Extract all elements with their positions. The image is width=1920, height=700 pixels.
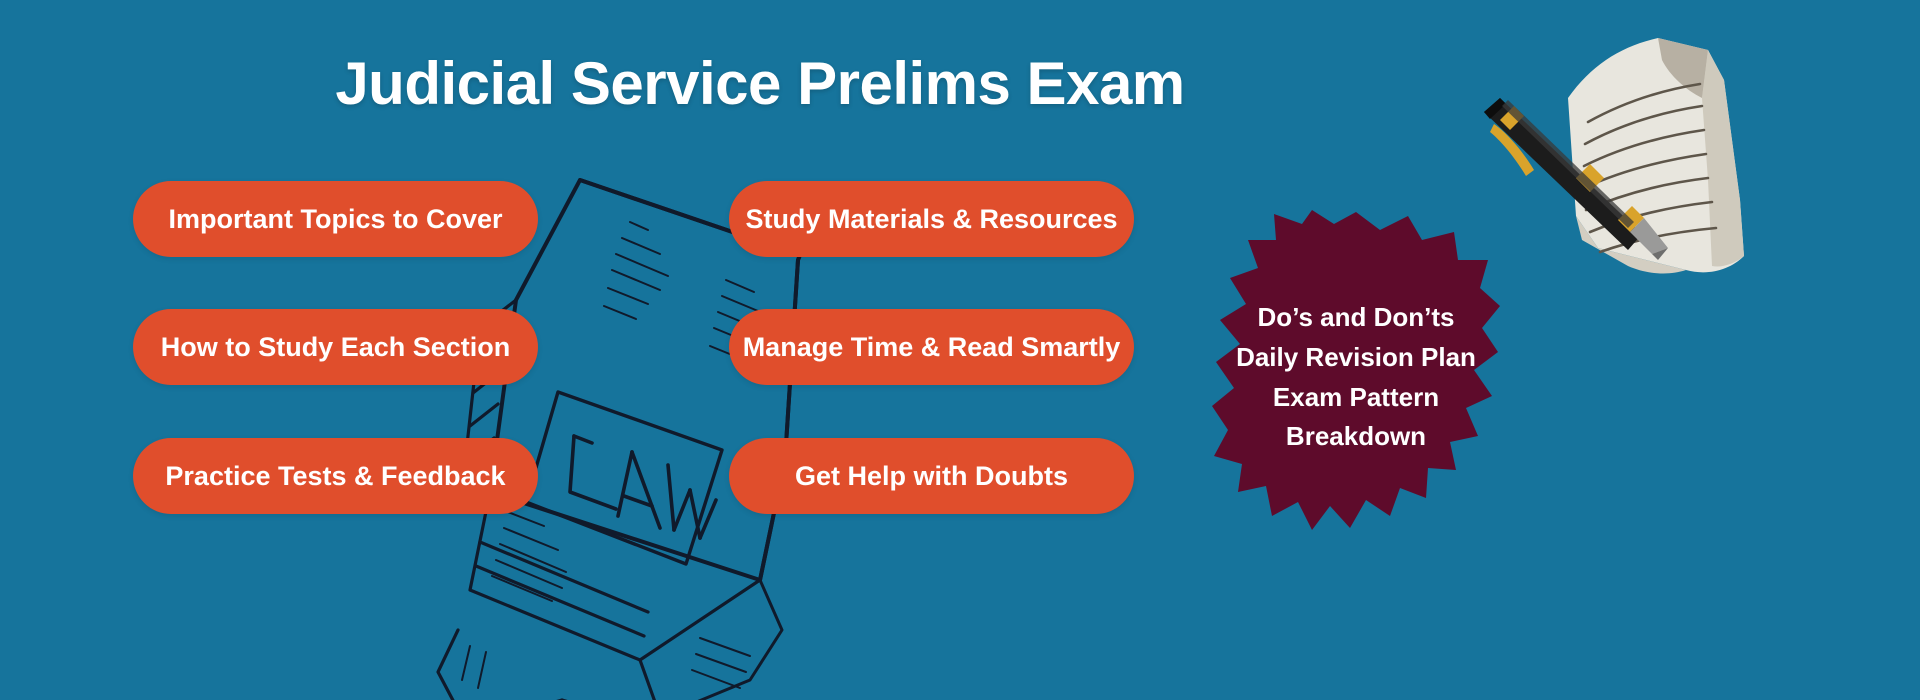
- badge-line-2: Daily Revision Plan: [1236, 338, 1476, 378]
- topic-button-how-to-study[interactable]: How to Study Each Section: [133, 309, 538, 385]
- topic-button-get-help[interactable]: Get Help with Doubts: [729, 438, 1134, 514]
- paper-and-pen-illustration: [1472, 20, 1812, 320]
- topic-button-manage-time[interactable]: Manage Time & Read Smartly: [729, 309, 1134, 385]
- topic-button-study-materials[interactable]: Study Materials & Resources: [729, 181, 1134, 257]
- badge-line-1: Do’s and Don’ts: [1258, 298, 1455, 338]
- topic-button-practice-tests[interactable]: Practice Tests & Feedback: [133, 438, 538, 514]
- badge-line-3: Exam Pattern: [1273, 378, 1439, 418]
- badge-line-4: Breakdown: [1286, 417, 1426, 457]
- topic-button-important-topics[interactable]: Important Topics to Cover: [133, 181, 538, 257]
- starburst-badge[interactable]: Do’s and Don’ts Daily Revision Plan Exam…: [1212, 210, 1500, 545]
- page-title: Judicial Service Prelims Exam: [0, 52, 1520, 115]
- badge-text-block: Do’s and Don’ts Daily Revision Plan Exam…: [1212, 210, 1500, 545]
- banner-root: Judicial Service Prelims Exam Important …: [0, 0, 1920, 700]
